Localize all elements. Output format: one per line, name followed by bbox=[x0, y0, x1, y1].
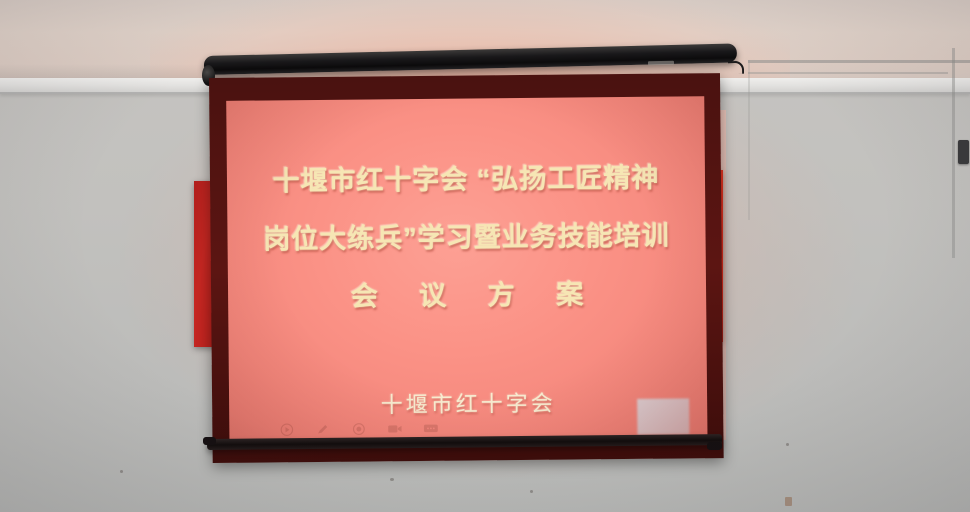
wall-mark bbox=[390, 478, 394, 481]
more-icon[interactable] bbox=[423, 422, 438, 435]
wall-panel-seam-second bbox=[748, 72, 948, 74]
roller-brand-label bbox=[648, 61, 674, 66]
wall-panel-seam-vertical bbox=[952, 48, 955, 258]
slide-title-line-1: 十堰市红十字会 “弘扬工匠精神 bbox=[272, 165, 659, 196]
screen-glare bbox=[637, 398, 689, 434]
play-icon[interactable] bbox=[279, 423, 294, 436]
wall-mark bbox=[785, 497, 792, 506]
wall-panel-seam-vertical-left bbox=[748, 60, 750, 220]
wall-mark bbox=[530, 490, 533, 493]
slide-title-line-2: 岗位大练兵”学习暨业务技能培训 bbox=[263, 223, 670, 254]
wall-fitting-icon bbox=[958, 140, 969, 164]
media-player-toolbar[interactable] bbox=[279, 422, 438, 437]
projection-screen: 十堰市红十字会 “弘扬工匠精神 岗位大练兵”学习暨业务技能培训 会 议 方 案 … bbox=[204, 56, 744, 456]
wall-mark bbox=[786, 443, 789, 446]
slide-title-line-3: 会 议 方 案 bbox=[334, 281, 601, 311]
weight-bar-cap-right bbox=[707, 442, 722, 450]
pen-icon[interactable] bbox=[315, 423, 330, 436]
room-photo: 十堰市红十字会 “弘扬工匠精神 岗位大练兵”学习暨业务技能培训 会 议 方 案 … bbox=[0, 0, 970, 512]
wall-mark bbox=[120, 470, 123, 473]
slide-organization: 十堰市红十字会 bbox=[380, 386, 555, 420]
record-icon[interactable] bbox=[351, 423, 366, 436]
weight-bar-cap-left bbox=[203, 437, 216, 445]
power-cord bbox=[728, 61, 744, 74]
screen-fabric: 十堰市红十字会 “弘扬工匠精神 岗位大练兵”学习暨业务技能培训 会 议 方 案 … bbox=[209, 73, 724, 463]
video-icon[interactable] bbox=[387, 422, 402, 435]
projected-slide: 十堰市红十字会 “弘扬工匠精神 岗位大练兵”学习暨业务技能培训 会 议 方 案 … bbox=[226, 96, 707, 441]
slide-content: 十堰市红十字会 “弘扬工匠精神 岗位大练兵”学习暨业务技能培训 会 议 方 案 … bbox=[226, 96, 707, 441]
wall-panel-seam-top bbox=[748, 60, 970, 63]
